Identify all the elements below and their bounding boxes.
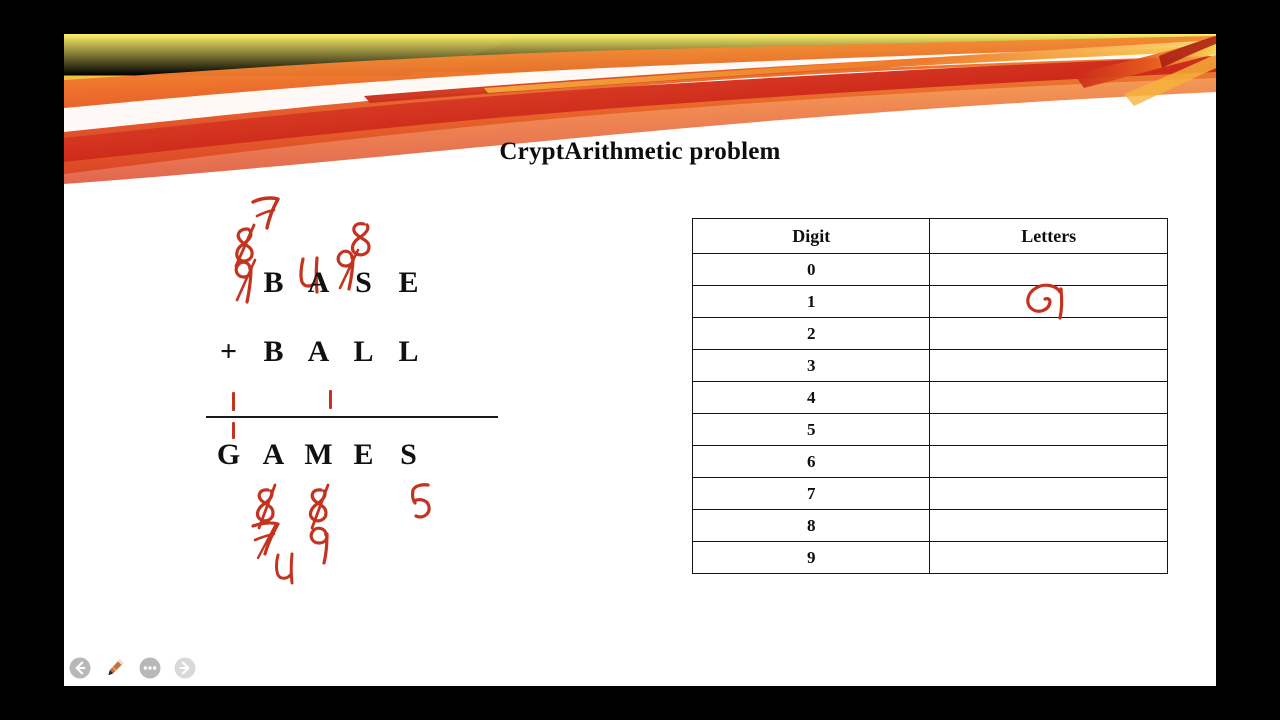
table-row[interactable]: 2 bbox=[693, 318, 1168, 350]
ink-guess-b-8-struck bbox=[228, 222, 268, 268]
ink-guess-games-a-8-struck bbox=[248, 482, 288, 532]
carry-mark-below-left bbox=[232, 422, 235, 439]
next-slide-button[interactable] bbox=[173, 656, 197, 680]
letter-games-2: M bbox=[296, 438, 341, 472]
carry-mark-above-left bbox=[232, 392, 235, 411]
cell-digit: 5 bbox=[693, 414, 930, 446]
ink-guess-games-a-4 bbox=[271, 552, 305, 588]
cell-letter[interactable] bbox=[930, 318, 1168, 350]
letter-games-1: A bbox=[251, 438, 296, 472]
cell-letter[interactable] bbox=[930, 542, 1168, 574]
plus-operator: + bbox=[206, 335, 251, 369]
slide-canvas: CryptArithmetic problem bbox=[64, 34, 1216, 686]
letter-games-3: E bbox=[341, 438, 386, 472]
table-row[interactable]: 7 bbox=[693, 478, 1168, 510]
cell-letter[interactable] bbox=[930, 382, 1168, 414]
cell-letter[interactable] bbox=[930, 478, 1168, 510]
cell-digit: 3 bbox=[693, 350, 930, 382]
letter-games-0: G bbox=[206, 438, 251, 472]
cell-digit: 9 bbox=[693, 542, 930, 574]
cell-letter[interactable] bbox=[930, 286, 1168, 318]
digit-letters-table: Digit Letters 0 1 bbox=[692, 218, 1168, 574]
ink-guess-b-7 bbox=[247, 192, 287, 232]
table-row[interactable]: 9 bbox=[693, 542, 1168, 574]
pen-tool-button[interactable] bbox=[103, 656, 127, 680]
presentation-toolbar bbox=[64, 652, 197, 684]
arrow-left-icon bbox=[68, 656, 92, 680]
pen-icon bbox=[103, 656, 127, 680]
presentation-viewer: CryptArithmetic problem bbox=[0, 0, 1280, 720]
arrow-right-icon bbox=[173, 656, 197, 680]
cell-digit: 8 bbox=[693, 510, 930, 542]
ink-guess-games-a-7-struck bbox=[248, 518, 288, 562]
cell-digit: 7 bbox=[693, 478, 930, 510]
cell-digit: 1 bbox=[693, 286, 930, 318]
letter-base-0: B bbox=[251, 266, 296, 300]
letter-ball-0: B bbox=[251, 335, 296, 369]
slide-title: CryptArithmetic problem bbox=[64, 138, 1216, 166]
word-base: BASE bbox=[251, 266, 431, 300]
cell-letter[interactable] bbox=[930, 510, 1168, 542]
letter-base-2: S bbox=[341, 266, 386, 300]
letter-ball-1: A bbox=[296, 335, 341, 369]
cryptarithmetic-puzzle: BASE +BALL GAMES bbox=[204, 194, 664, 614]
table-row[interactable]: 4 bbox=[693, 382, 1168, 414]
more-options-button[interactable] bbox=[138, 656, 162, 680]
ink-guess-games-e-5 bbox=[404, 480, 440, 526]
ellipsis-icon bbox=[138, 656, 162, 680]
header-letters: Letters bbox=[930, 219, 1168, 254]
ink-guess-games-m-8-struck bbox=[300, 482, 340, 532]
cell-digit: 0 bbox=[693, 254, 930, 286]
word-ball: +BALL bbox=[206, 335, 431, 369]
letter-ball-2: L bbox=[341, 335, 386, 369]
word-games: GAMES bbox=[206, 438, 431, 472]
ink-guess-s-8 bbox=[342, 216, 382, 262]
table-row[interactable]: 8 bbox=[693, 510, 1168, 542]
ink-guess-games-m-9 bbox=[302, 522, 340, 566]
sum-rule-line bbox=[206, 416, 498, 418]
cell-digit: 6 bbox=[693, 446, 930, 478]
letter-games-4: S bbox=[386, 438, 431, 472]
cell-letter[interactable] bbox=[930, 446, 1168, 478]
cell-digit: 4 bbox=[693, 382, 930, 414]
letter-base-3: E bbox=[386, 266, 431, 300]
table-row[interactable]: 1 bbox=[693, 286, 1168, 318]
table-row[interactable]: 3 bbox=[693, 350, 1168, 382]
table-row[interactable]: 6 bbox=[693, 446, 1168, 478]
cell-letter[interactable] bbox=[930, 350, 1168, 382]
table-row[interactable]: 5 bbox=[693, 414, 1168, 446]
cell-letter[interactable] bbox=[930, 414, 1168, 446]
cell-digit: 2 bbox=[693, 318, 930, 350]
header-digit: Digit bbox=[693, 219, 930, 254]
table-header-row: Digit Letters bbox=[693, 219, 1168, 254]
table-row[interactable]: 0 bbox=[693, 254, 1168, 286]
letter-base-1: A bbox=[296, 266, 341, 300]
letter-ball-3: L bbox=[386, 335, 431, 369]
carry-mark-above-mid bbox=[329, 390, 332, 409]
previous-slide-button[interactable] bbox=[68, 656, 92, 680]
ink-letter-g bbox=[930, 286, 1167, 317]
